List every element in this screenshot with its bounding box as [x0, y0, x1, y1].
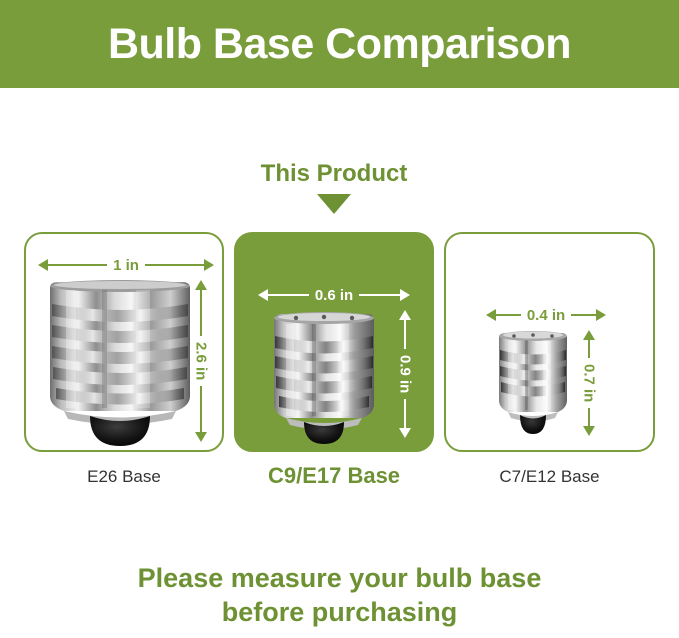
this-product-callout: This Product [234, 162, 434, 214]
bulb-base-image-e26 [44, 278, 196, 446]
arrow-down-icon [583, 426, 595, 436]
footer-note-line2: before purchasing [0, 596, 679, 630]
height-value-c9e17: 0.9 in [398, 349, 413, 399]
bulb-base-image-c7e12 [494, 328, 572, 434]
width-dimension-c9e17: 0.6 in [258, 286, 410, 304]
width-value-c7e12: 0.4 in [521, 308, 571, 323]
height-dimension-c7e12: 0.7 in [578, 330, 600, 436]
footer-note: Please measure your bulb base before pur… [0, 562, 679, 630]
base-label-c9-e17: C9/E17 Base [234, 465, 434, 487]
dimension-line [404, 320, 406, 349]
header-banner: Bulb Base Comparison [0, 0, 679, 88]
width-value-e26: 1 in [107, 258, 145, 273]
arrow-up-icon [399, 310, 411, 320]
height-value-c7e12: 0.7 in [582, 358, 597, 408]
base-labels-row: E26 Base C9/E17 Base C7/E12 Base [0, 468, 679, 498]
dimension-line [200, 386, 202, 432]
arrow-left-icon [38, 259, 48, 271]
arrow-right-icon [400, 289, 410, 301]
width-dimension-c7e12: 0.4 in [486, 306, 606, 324]
dimension-line [571, 314, 596, 316]
this-product-label: This Product [234, 162, 434, 186]
arrow-left-icon [258, 289, 268, 301]
dimension-line [588, 408, 590, 426]
dimension-line [496, 314, 521, 316]
bulb-base-image-c9e17 [268, 308, 380, 444]
base-label-e26: E26 Base [24, 468, 224, 485]
comparison-cards-row: 1 in 2.6 in [0, 232, 679, 454]
dimension-line [588, 340, 590, 358]
triangle-down-icon [317, 194, 351, 214]
arrow-up-icon [583, 330, 595, 340]
bulb-card-c9-e17[interactable]: 0.6 in 0.9 in [234, 232, 434, 452]
bulb-card-c7-e12[interactable]: 0.4 in 0.7 in [444, 232, 655, 452]
arrow-right-icon [596, 309, 606, 321]
arrow-left-icon [486, 309, 496, 321]
arrow-up-icon [195, 280, 207, 290]
base-label-c7-e12: C7/E12 Base [444, 468, 655, 485]
dimension-line [268, 294, 309, 296]
bulb-card-e26[interactable]: 1 in 2.6 in [24, 232, 224, 452]
arrow-right-icon [204, 259, 214, 271]
width-value-c9e17: 0.6 in [309, 288, 359, 303]
dimension-line [145, 264, 204, 266]
arrow-down-icon [195, 432, 207, 442]
height-dimension-c9e17: 0.9 in [394, 310, 416, 438]
dimension-line [404, 399, 406, 428]
dimension-line [200, 290, 202, 336]
footer-note-line1: Please measure your bulb base [138, 563, 542, 593]
dimension-line [359, 294, 400, 296]
width-dimension-e26: 1 in [38, 256, 214, 274]
dimension-line [48, 264, 107, 266]
arrow-down-icon [399, 428, 411, 438]
page-title: Bulb Base Comparison [108, 23, 571, 66]
